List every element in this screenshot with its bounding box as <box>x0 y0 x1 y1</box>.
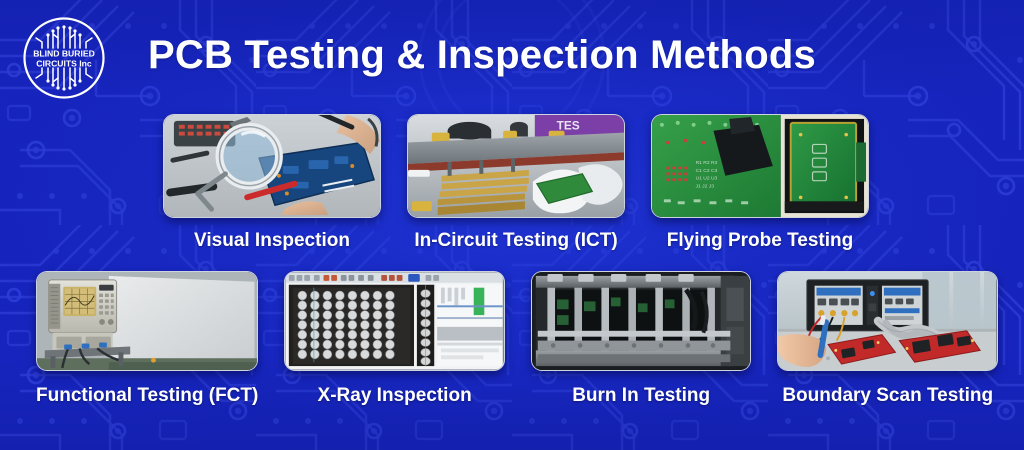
logo-line2-text: CIRCUITS Inc <box>36 59 92 69</box>
methods-row-top: Visual Inspection TES <box>163 114 869 252</box>
method-label-functional-testing: Functional Testing (FCT) <box>36 385 258 407</box>
thumbnail-functional-testing[interactable] <box>36 271 258 371</box>
method-card-x-ray-inspection[interactable]: X-Ray Inspection <box>284 271 505 407</box>
svg-text:J1 J2 J3: J1 J2 J3 <box>696 184 715 190</box>
method-label-burn-in-testing: Burn In Testing <box>572 385 710 407</box>
infographic-poster: BLIND BURIED CIRCUITS Inc PCB Testing & … <box>0 0 1024 450</box>
header: BLIND BURIED CIRCUITS Inc PCB Testing & … <box>0 0 1024 108</box>
method-label-in-circuit-testing: In-Circuit Testing (ICT) <box>414 230 617 252</box>
thumbnail-visual-inspection[interactable] <box>163 114 381 218</box>
thumbnail-in-circuit-testing[interactable]: TES <box>407 114 625 218</box>
method-card-flying-probe-testing[interactable]: R1 R2 R3 C1 C2 C3 U1 U2 U3 J1 J2 J3 <box>651 114 869 252</box>
page-title: PCB Testing & Inspection Methods <box>148 32 816 78</box>
svg-text:TES: TES <box>557 119 580 133</box>
thumbnail-boundary-scan-testing[interactable] <box>777 271 998 371</box>
method-card-burn-in-testing[interactable]: Burn In Testing <box>531 271 752 407</box>
method-label-visual-inspection: Visual Inspection <box>194 230 350 252</box>
thumbnail-flying-probe-testing[interactable]: R1 R2 R3 C1 C2 C3 U1 U2 U3 J1 J2 J3 <box>651 114 869 218</box>
blind-buried-circuits-logo[interactable]: BLIND BURIED CIRCUITS Inc <box>22 16 106 100</box>
thumbnail-x-ray-inspection[interactable] <box>284 271 505 371</box>
svg-text:U1 U2 U3: U1 U2 U3 <box>696 176 718 182</box>
method-card-in-circuit-testing[interactable]: TES <box>407 114 625 252</box>
methods-row-bottom: Functional Testing (FCT) <box>36 271 998 407</box>
method-card-boundary-scan-testing[interactable]: Boundary Scan Testing <box>777 271 998 407</box>
svg-text:C1 C2 C3: C1 C2 C3 <box>696 168 718 174</box>
method-label-flying-probe-testing: Flying Probe Testing <box>667 230 854 252</box>
method-card-functional-testing[interactable]: Functional Testing (FCT) <box>36 271 258 407</box>
logo-line1-text: BLIND BURIED <box>33 49 95 59</box>
method-label-boundary-scan-testing: Boundary Scan Testing <box>782 385 993 407</box>
thumbnail-burn-in-testing[interactable] <box>531 271 752 371</box>
method-label-x-ray-inspection: X-Ray Inspection <box>318 385 472 407</box>
svg-text:R1 R2 R3: R1 R2 R3 <box>696 160 718 166</box>
method-card-visual-inspection[interactable]: Visual Inspection <box>163 114 381 252</box>
